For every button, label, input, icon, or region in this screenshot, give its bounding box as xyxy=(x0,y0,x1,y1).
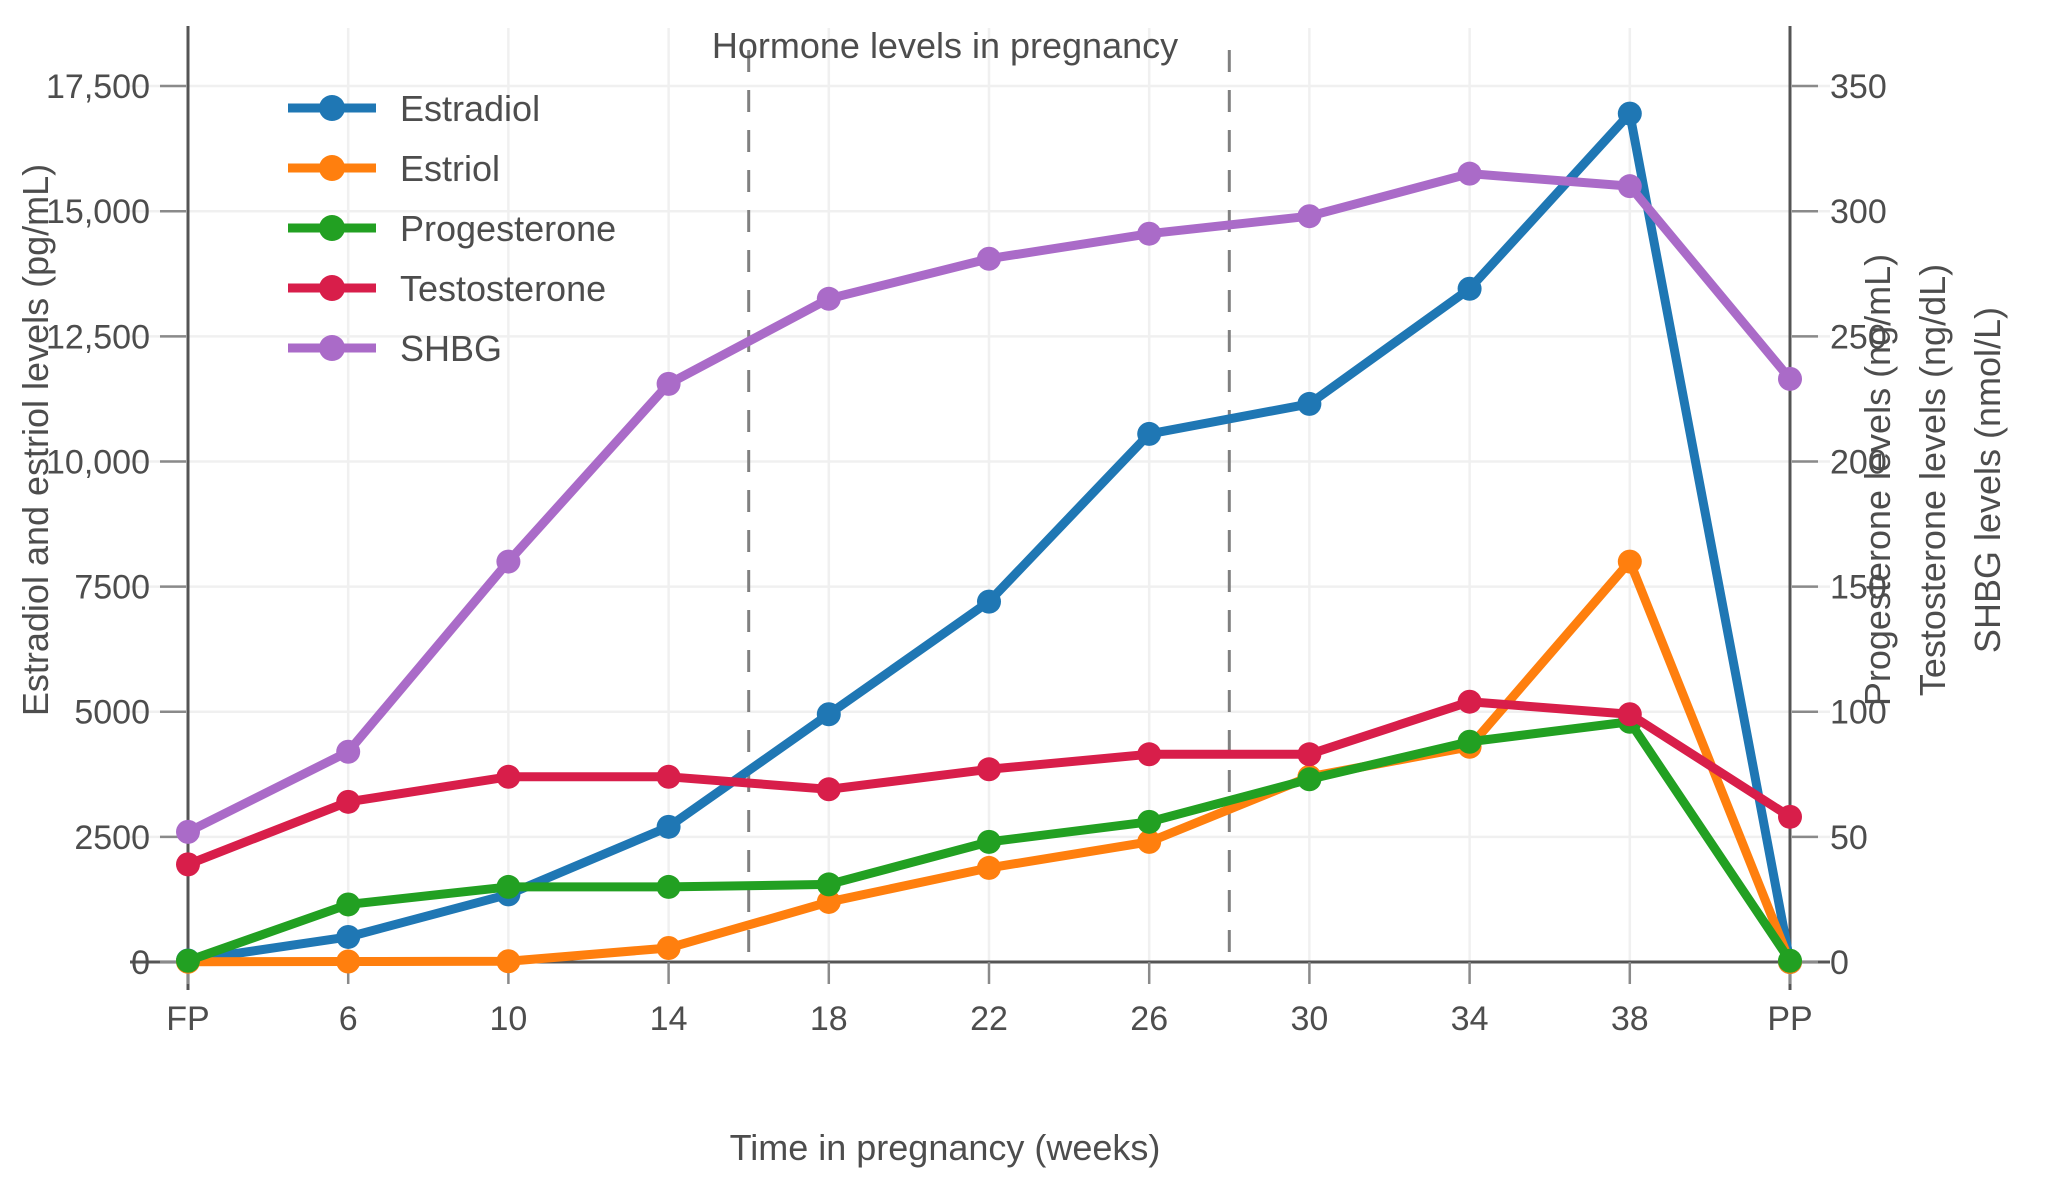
legend-label-testosterone: Testosterone xyxy=(400,268,606,309)
y-right-tick-label: 0 xyxy=(1830,944,1849,982)
x-tick-label: 18 xyxy=(810,1000,848,1038)
data-point-estradiol xyxy=(1618,102,1642,126)
x-tick-label: 10 xyxy=(489,1000,527,1038)
data-point-estradiol xyxy=(817,702,841,726)
y-left-tick-label: 12,500 xyxy=(46,318,150,356)
x-tick-label: 22 xyxy=(970,1000,1008,1038)
legend-label-estriol: Estriol xyxy=(400,148,500,189)
data-point-progesterone xyxy=(817,872,841,896)
data-point-progesterone xyxy=(176,949,200,973)
y-right-tick-label: 350 xyxy=(1830,68,1887,106)
legend-marker-testosterone xyxy=(319,275,345,301)
y-right-tick-label: 50 xyxy=(1830,819,1868,857)
data-point-shbg xyxy=(1137,222,1161,246)
x-tick-label: 6 xyxy=(339,1000,358,1038)
data-point-testosterone xyxy=(336,790,360,814)
data-point-shbg xyxy=(1297,204,1321,228)
data-point-testosterone xyxy=(1137,742,1161,766)
data-point-testosterone xyxy=(817,777,841,801)
legend-marker-shbg xyxy=(319,335,345,361)
legend-marker-progesterone xyxy=(319,215,345,241)
data-point-estriol xyxy=(496,949,520,973)
data-point-shbg xyxy=(176,820,200,844)
data-point-estradiol xyxy=(657,815,681,839)
x-tick-label: 26 xyxy=(1130,1000,1168,1038)
y-left-tick-label: 17,500 xyxy=(46,68,150,106)
data-point-progesterone xyxy=(336,892,360,916)
data-point-shbg xyxy=(496,550,520,574)
x-tick-label: 14 xyxy=(650,1000,688,1038)
data-point-shbg xyxy=(1778,367,1802,391)
data-point-progesterone xyxy=(1297,767,1321,791)
legend-marker-estradiol xyxy=(319,95,345,121)
x-tick-label: FP xyxy=(166,1000,209,1038)
y-left-tick-label: 15,000 xyxy=(46,193,150,231)
data-point-progesterone xyxy=(496,875,520,899)
data-point-estriol xyxy=(1618,550,1642,574)
chart-figure: FP61014182226303438PP 025005000750010,00… xyxy=(0,0,2048,1196)
y-left-tick-label: 10,000 xyxy=(46,443,150,481)
legend-marker-estriol xyxy=(319,155,345,181)
data-point-testosterone xyxy=(1618,702,1642,726)
data-point-shbg xyxy=(977,247,1001,271)
data-point-estradiol xyxy=(336,925,360,949)
y-left-tick-label: 7500 xyxy=(74,569,150,607)
data-point-progesterone xyxy=(977,830,1001,854)
data-point-shbg xyxy=(336,740,360,764)
data-point-shbg xyxy=(1458,162,1482,186)
data-point-progesterone xyxy=(1137,810,1161,834)
y-axis-left-title: Estradiol and estriol levels (pg/mL) xyxy=(15,164,56,716)
chart-title: Hormone levels in pregnancy xyxy=(712,25,1178,66)
data-point-testosterone xyxy=(176,852,200,876)
data-point-estradiol xyxy=(977,590,1001,614)
legend-label-progesterone: Progesterone xyxy=(400,208,616,249)
y-axis-right-title-shbg: SHBG levels (nmol/L) xyxy=(1967,307,2008,653)
data-point-testosterone xyxy=(496,765,520,789)
data-point-estriol xyxy=(336,950,360,974)
y-right-tick-label: 300 xyxy=(1830,193,1887,231)
y-axis-right-title-progesterone: Progesterone levels (ng/mL) xyxy=(1857,254,1898,706)
data-point-estradiol xyxy=(1137,422,1161,446)
y-left-tick-label: 2500 xyxy=(74,819,150,857)
y-left-tick-label: 0 xyxy=(131,944,150,982)
hormone-levels-line-chart: FP61014182226303438PP 025005000750010,00… xyxy=(0,0,2048,1196)
data-point-estradiol xyxy=(1458,277,1482,301)
legend-label-shbg: SHBG xyxy=(400,328,502,369)
data-point-progesterone xyxy=(1778,949,1802,973)
y-axis-right-title-testosterone: Testosterone levels (ng/dL) xyxy=(1912,264,1953,696)
data-point-estriol xyxy=(977,856,1001,880)
data-point-testosterone xyxy=(1297,742,1321,766)
data-point-shbg xyxy=(657,372,681,396)
x-tick-label: PP xyxy=(1767,1000,1812,1038)
data-point-shbg xyxy=(1618,174,1642,198)
data-point-testosterone xyxy=(1458,690,1482,714)
data-point-progesterone xyxy=(657,875,681,899)
data-point-estradiol xyxy=(1297,392,1321,416)
data-point-progesterone xyxy=(1458,730,1482,754)
legend-label-estradiol: Estradiol xyxy=(400,88,540,129)
x-tick-label: 30 xyxy=(1290,1000,1328,1038)
x-tick-label: 34 xyxy=(1451,1000,1489,1038)
data-point-testosterone xyxy=(1778,805,1802,829)
data-point-testosterone xyxy=(977,757,1001,781)
chart-background xyxy=(0,0,2048,1196)
x-axis-title: Time in pregnancy (weeks) xyxy=(730,1127,1161,1168)
data-point-estriol xyxy=(657,936,681,960)
x-tick-label: 38 xyxy=(1611,1000,1649,1038)
data-point-testosterone xyxy=(657,765,681,789)
data-point-shbg xyxy=(817,287,841,311)
y-left-tick-label: 5000 xyxy=(74,694,150,732)
